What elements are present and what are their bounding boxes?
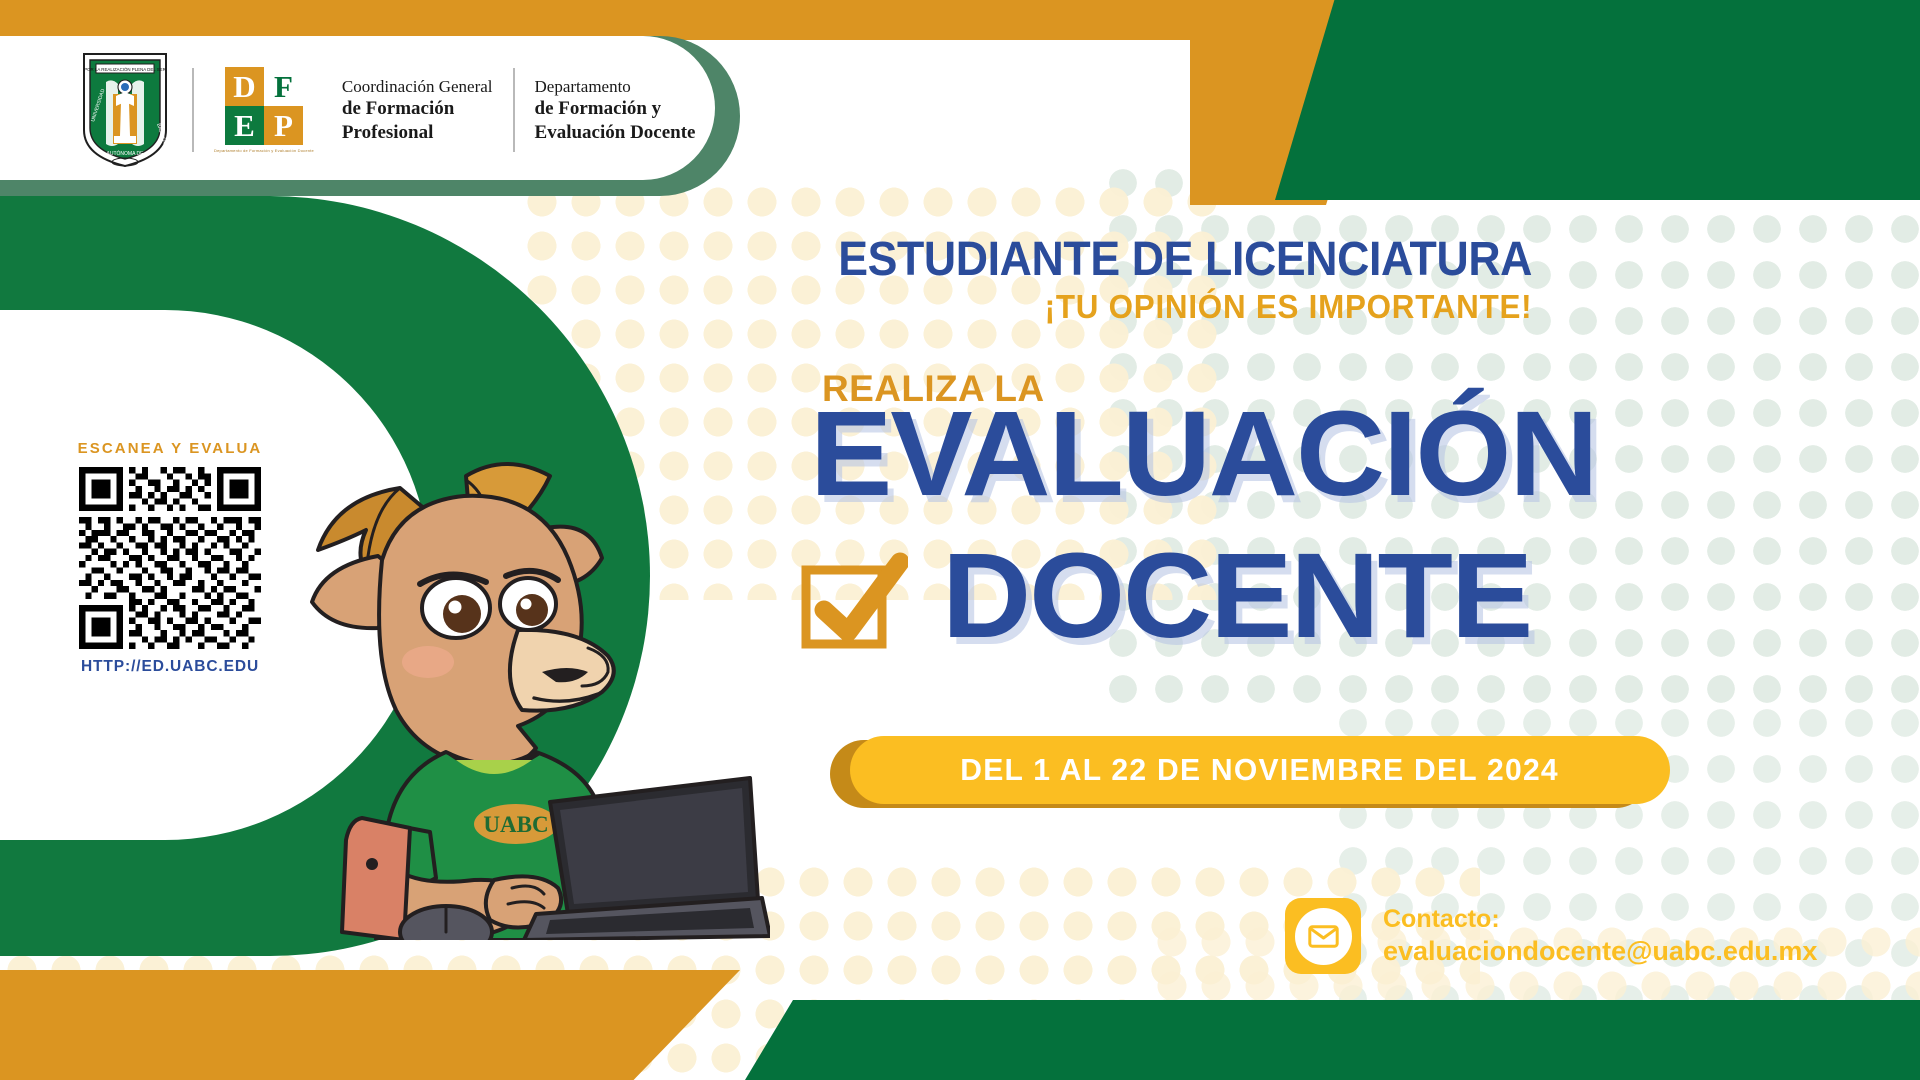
departamento-line-3: Evaluación Docente [535,121,696,145]
dfed-letter-e: E [225,106,264,145]
departamento-text-block: Departamento de Formación y Evaluación D… [535,76,696,144]
contact-block[interactable]: Contacto: evaluaciondocente@uabc.edu.mx [1285,898,1817,974]
dfed-letter-d: D [225,67,264,106]
qr-url-label[interactable]: HTTP://ED.UABC.EDU [70,658,270,676]
headline-line-2: ¡TU OPINIÓN ES IMPORTANTE! [1044,288,1532,326]
headline-docente: DOCENTE [942,540,1531,651]
logo-divider-2 [513,68,515,152]
top-green-wedge [1275,0,1920,200]
bottom-orange-wedge [0,970,740,1080]
header-logo-row: POR LA REALIZACIÓN PLENA DEL SER UNIVERS… [78,52,695,168]
logo-divider-1 [192,68,194,152]
top-orange-bar [0,0,1300,40]
date-pill[interactable]: DEL 1 AL 22 DE NOVIEMBRE DEL 2024 [850,736,1670,804]
svg-text:AUTÓNOMA DE: AUTÓNOMA DE [107,150,145,157]
qr-block: ESCANEA Y EVALUA [70,440,270,676]
uabc-crest-icon: POR LA REALIZACIÓN PLENA DEL SER UNIVERS… [78,52,172,168]
svg-text:UABC: UABC [483,812,548,837]
svg-text:POR LA REALIZACIÓN PLENA DEL S: POR LA REALIZACIÓN PLENA DEL SER [84,67,166,72]
dfed-logo-subtitle: Departamento de Formación y Evaluación D… [214,148,314,153]
headline-evaluacion: EVALUACIÓN [810,398,1596,509]
envelope-icon [1285,898,1361,974]
contact-label: Contacto: [1383,904,1817,935]
envelope-glyph [1308,925,1339,948]
contact-email[interactable]: evaluaciondocente@uabc.edu.mx [1383,935,1817,968]
dfed-letter-f: F [264,67,303,106]
coordinacion-text-block: Coordinación General de Formación Profes… [342,76,493,144]
coordinacion-line-2: de Formación [342,97,493,121]
dfed-letter-p: P [264,106,303,145]
contact-text: Contacto: evaluaciondocente@uabc.edu.mx [1383,904,1817,968]
departamento-line-1: Departamento [535,76,696,97]
bottom-green-wedge [745,1000,1920,1080]
coordinacion-line-3: Profesional [342,121,493,145]
qr-title: ESCANEA Y EVALUA [70,440,270,457]
checkbox-checked-icon [800,552,908,650]
date-pill-label: DEL 1 AL 22 DE NOVIEMBRE DEL 2024 [961,752,1560,788]
mascot-goat-illustration: UABC [250,380,770,940]
headline-line-1: ESTUDIANTE DE LICENCIATURA [838,232,1532,287]
coordinacion-line-1: Coordinación General [342,76,493,97]
departamento-line-2: de Formación y [535,97,696,121]
qr-code-image[interactable] [79,467,261,649]
dfed-logo: D F E P Departamento de Formación y Eval… [214,67,314,153]
banner-canvas: POR LA REALIZACIÓN PLENA DEL SER UNIVERS… [0,0,1920,1080]
